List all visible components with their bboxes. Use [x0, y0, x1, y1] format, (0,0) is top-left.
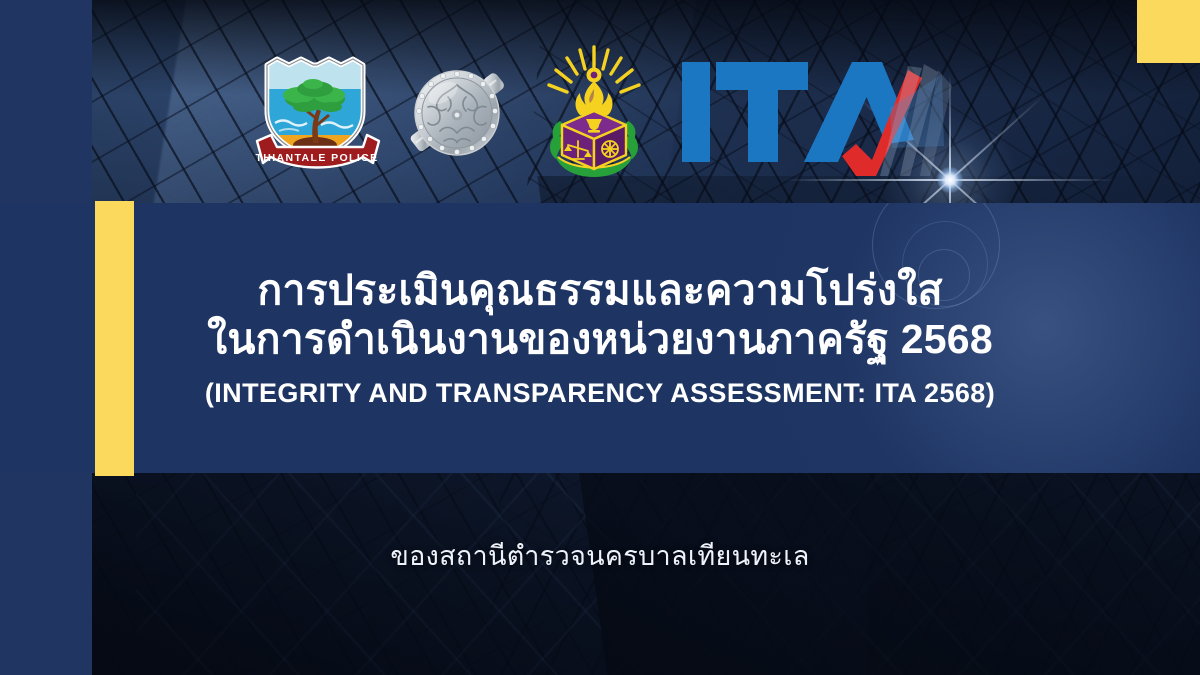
subtitle: ของสถานีตำรวจนครบาลเทียนทะเล	[0, 534, 1200, 577]
shield-ribbon-text: THIANTALE POLICE	[255, 152, 378, 164]
royal-thai-police-medallion-icon	[398, 49, 516, 177]
banner-stage: การประเมินคุณธรรมและความโปร่งใส ในการดำเ…	[0, 0, 1200, 675]
thiantale-police-shield-icon: THIANTALE POLICE	[255, 49, 380, 177]
ita-wordmark-icon	[676, 48, 966, 178]
title-line-1: การประเมินคุณธรรมและความโปร่งใส	[257, 267, 942, 314]
headline-group: การประเมินคุณธรรมและความโปร่งใส ในการดำเ…	[0, 203, 1200, 473]
logo-row: THIANTALE POLICE	[255, 38, 955, 188]
yellow-corner-accent	[1137, 0, 1200, 63]
nacc-emblem-icon	[534, 41, 654, 181]
title-line-2: ในการดำเนินงานของหน่วยงานภาครัฐ 2568	[207, 316, 993, 363]
title-english: (INTEGRITY AND TRANSPARENCY ASSESSMENT: …	[205, 378, 995, 409]
